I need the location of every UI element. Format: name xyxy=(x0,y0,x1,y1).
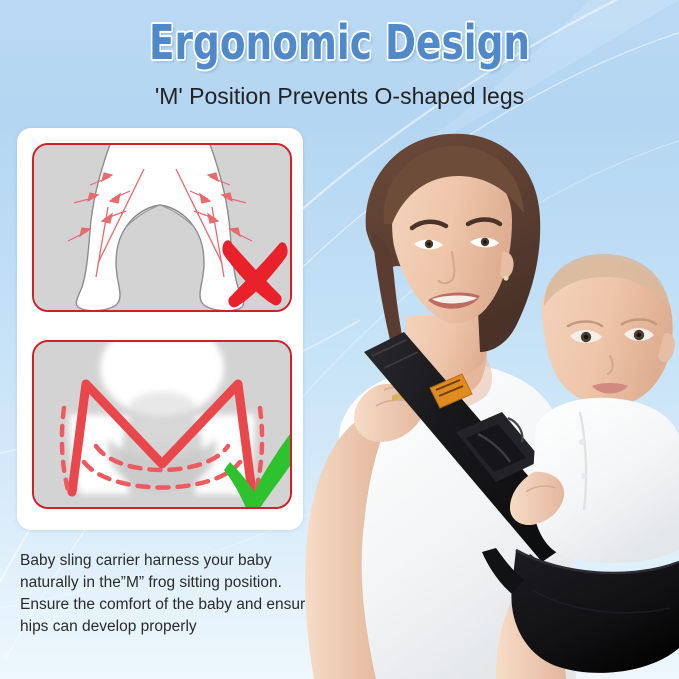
product-marketing-image: Ergonomic Design 'M' Position Prevents O… xyxy=(0,0,679,679)
baby xyxy=(496,254,679,679)
strap-buckle xyxy=(456,412,542,482)
mother-head xyxy=(366,134,541,386)
gold-ring xyxy=(392,393,411,403)
mother-and-baby-photo xyxy=(280,120,679,679)
page-title: Ergonomic Design xyxy=(75,18,605,68)
comparison-card xyxy=(17,128,303,530)
panel-correct-m-position xyxy=(32,340,292,509)
mother-body xyxy=(305,316,576,679)
baby-eyes xyxy=(568,320,656,343)
mother-hand xyxy=(354,384,423,442)
earring xyxy=(503,275,508,280)
panel-incorrect-o-shaped-legs xyxy=(32,143,292,312)
page-subtitle: 'M' Position Prevents O-shaped legs xyxy=(0,82,679,110)
sling-seat xyxy=(482,548,679,673)
caption-text: Baby sling carrier harness your baby nat… xyxy=(20,550,320,638)
brand-label xyxy=(430,374,472,408)
eyes xyxy=(414,238,499,250)
carrier-shoulder-strap xyxy=(364,332,620,648)
